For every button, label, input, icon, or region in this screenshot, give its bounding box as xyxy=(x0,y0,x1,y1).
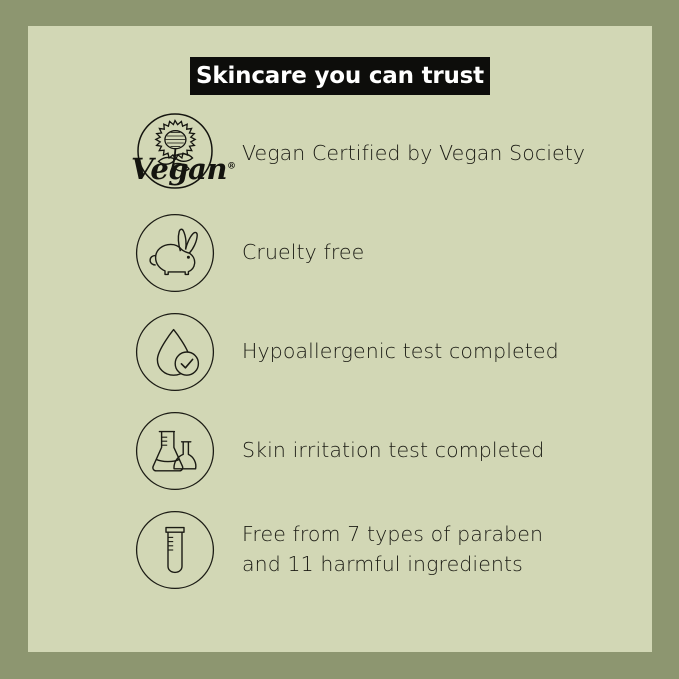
page-title: Skincare you can trust xyxy=(196,65,484,88)
vegan-society-logo-slot: Vegan® xyxy=(135,104,215,203)
claim-label-line: Free from 7 types of paraben xyxy=(242,520,642,549)
vegan-society-logo: Vegan® xyxy=(127,111,223,197)
claim-label-line: Hypoallergenic test completed xyxy=(242,337,642,366)
claim-row-hypoallergenic: Hypoallergenic test completed xyxy=(28,302,652,401)
claim-label-line: Skin irritation test completed xyxy=(242,436,642,465)
content-panel: Skincare you can trust xyxy=(28,26,652,652)
test-tube-icon xyxy=(135,510,215,590)
claim-label-hypoallergenic: Hypoallergenic test completed xyxy=(242,337,642,366)
lab-flasks-icon xyxy=(135,411,215,491)
claim-row-skin-irritation: Skin irritation test completed xyxy=(28,401,652,500)
claim-row-free-from: Free from 7 types of paraben and 11 harm… xyxy=(28,500,652,599)
claim-label-free-from: Free from 7 types of paraben and 11 harm… xyxy=(242,520,642,578)
claim-label-vegan: Vegan Certified by Vegan Society xyxy=(242,139,642,168)
claim-label-line: and 11 harmful ingredients xyxy=(242,550,642,579)
claim-row-cruelty-free: Cruelty free xyxy=(28,203,652,302)
poster-root: Skincare you can trust xyxy=(0,0,679,679)
droplet-check-icon xyxy=(135,312,215,392)
claim-row-vegan: Vegan® Vegan Certified by Vegan Society xyxy=(28,104,652,203)
droplet-check-icon-slot xyxy=(135,302,215,401)
claim-label-line: Cruelty free xyxy=(242,238,642,267)
test-tube-icon-slot xyxy=(135,500,215,599)
registered-trademark-icon: ® xyxy=(227,161,236,171)
claim-label-line: Vegan Certified by Vegan Society xyxy=(242,139,642,168)
claim-label-skin-irritation: Skin irritation test completed xyxy=(242,436,642,465)
rabbit-icon xyxy=(135,213,215,293)
vegan-wordmark: Vegan® xyxy=(131,155,227,184)
claims-list: Vegan® Vegan Certified by Vegan Society xyxy=(28,104,652,599)
rabbit-icon-slot xyxy=(135,203,215,302)
title-banner: Skincare you can trust xyxy=(190,57,490,95)
lab-flasks-icon-slot xyxy=(135,401,215,500)
claim-label-cruelty-free: Cruelty free xyxy=(242,238,642,267)
